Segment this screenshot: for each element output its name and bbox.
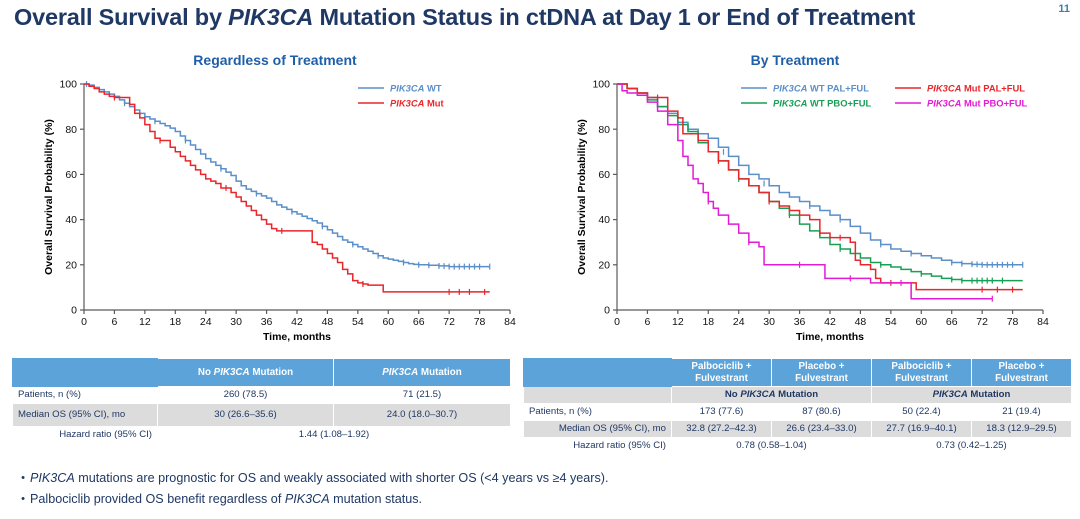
row-value-2: 27.7 (16.9–40.1) bbox=[872, 421, 972, 438]
svg-text:18: 18 bbox=[169, 316, 181, 328]
svg-text:60: 60 bbox=[915, 316, 927, 328]
svg-text:18: 18 bbox=[702, 316, 714, 328]
column-header-3: Placebo +Fulvestrant bbox=[972, 359, 1072, 387]
row-label: Median OS (95% CI), mo bbox=[13, 404, 158, 427]
svg-text:36: 36 bbox=[794, 316, 806, 328]
km-chart-by-treatment: 0204060801000612182430364248546066727884… bbox=[545, 72, 1055, 347]
svg-text:24: 24 bbox=[200, 316, 212, 328]
slide-number: 11 bbox=[1058, 3, 1070, 15]
svg-text:40: 40 bbox=[598, 214, 610, 226]
svg-text:80: 80 bbox=[598, 124, 610, 136]
group-header-1: PIK3CA Mutation bbox=[872, 387, 1072, 404]
svg-text:80: 80 bbox=[65, 124, 77, 136]
row-value-1: 71 (21.5) bbox=[334, 387, 511, 404]
row-value-span: 1.44 (1.08–1.92) bbox=[158, 427, 511, 444]
column-header-0: No PIK3CA Mutation bbox=[158, 359, 334, 387]
row-label: Patients, n (%) bbox=[13, 387, 158, 404]
svg-text:24: 24 bbox=[733, 316, 745, 328]
bullet-text: Palbociclib provided OS benefit regardle… bbox=[30, 491, 422, 508]
column-header-1: PIK3CA Mutation bbox=[334, 359, 511, 387]
svg-text:30: 30 bbox=[230, 316, 242, 328]
svg-text:66: 66 bbox=[413, 316, 425, 328]
svg-text:72: 72 bbox=[443, 316, 455, 328]
svg-text:78: 78 bbox=[1007, 316, 1019, 328]
row-label: Hazard ratio (95% CI) bbox=[524, 438, 672, 455]
table-row: Patients, n (%)173 (77.6)87 (80.6)50 (22… bbox=[524, 404, 1072, 421]
svg-text:Overall Survival Probability (: Overall Survival Probability (%) bbox=[43, 119, 55, 275]
svg-text:6: 6 bbox=[645, 316, 651, 328]
svg-text:78: 78 bbox=[474, 316, 486, 328]
svg-text:0: 0 bbox=[81, 316, 87, 328]
bullet-marker-icon: • bbox=[16, 491, 30, 508]
svg-text:12: 12 bbox=[139, 316, 151, 328]
km-curve-2 bbox=[617, 84, 1023, 290]
svg-text:84: 84 bbox=[504, 316, 516, 328]
by-treatment-table: Palbociclib +FulvestrantPlacebo +Fulvest… bbox=[523, 358, 1072, 455]
slide-root: Overall Survival by PIK3CA Mutation Stat… bbox=[0, 0, 1080, 519]
table-row: Median OS (95% CI), mo32.8 (27.2–42.3)26… bbox=[524, 421, 1072, 438]
row-value-3: 18.3 (12.9–29.5) bbox=[972, 421, 1072, 438]
bullet-item: •PIK3CA mutations are prognostic for OS … bbox=[16, 470, 1066, 487]
svg-text:40: 40 bbox=[65, 214, 77, 226]
svg-text:Time, months: Time, months bbox=[263, 331, 331, 343]
table-row: Hazard ratio (95% CI)1.44 (1.08–1.92) bbox=[13, 427, 511, 444]
svg-text:30: 30 bbox=[763, 316, 775, 328]
svg-text:60: 60 bbox=[65, 169, 77, 181]
table-row: Median OS (95% CI), mo30 (26.6–35.6)24.0… bbox=[13, 404, 511, 427]
row-value-1: 87 (80.6) bbox=[772, 404, 872, 421]
svg-text:PIK3CA Mut: PIK3CA Mut bbox=[390, 98, 444, 109]
row-value-2: 50 (22.4) bbox=[872, 404, 972, 421]
right-panel-title: By Treatment bbox=[560, 52, 1030, 68]
group-header-row: No PIK3CA MutationPIK3CA Mutation bbox=[524, 387, 1072, 404]
svg-text:0: 0 bbox=[614, 316, 620, 328]
km-chart-regardless-of-treatment: 0204060801000612182430364248546066727884… bbox=[12, 72, 522, 347]
svg-text:PIK3CA Mut PBO+FUL: PIK3CA Mut PBO+FUL bbox=[927, 98, 1028, 109]
group-header-blank bbox=[524, 387, 672, 404]
row-value-0: 30 (26.6–35.6) bbox=[158, 404, 334, 427]
svg-text:60: 60 bbox=[382, 316, 394, 328]
svg-text:6: 6 bbox=[112, 316, 118, 328]
svg-text:54: 54 bbox=[885, 316, 897, 328]
svg-text:PIK3CA WT PBO+FUL: PIK3CA WT PBO+FUL bbox=[773, 98, 871, 109]
regardless-of-treatment-table: No PIK3CA MutationPIK3CA MutationPatient… bbox=[12, 358, 511, 444]
svg-text:12: 12 bbox=[672, 316, 684, 328]
row-label: Median OS (95% CI), mo bbox=[524, 421, 672, 438]
header-blank bbox=[524, 359, 672, 387]
table-row: Hazard ratio (95% CI)0.78 (0.58–1.04)0.7… bbox=[524, 438, 1072, 455]
bullet-marker-icon: • bbox=[16, 470, 30, 487]
row-label: Hazard ratio (95% CI) bbox=[13, 427, 158, 444]
svg-text:42: 42 bbox=[824, 316, 836, 328]
svg-text:48: 48 bbox=[855, 316, 867, 328]
column-header-2: Palbociclib +Fulvestrant bbox=[872, 359, 972, 387]
svg-text:100: 100 bbox=[59, 79, 77, 91]
svg-text:Overall Survival Probability (: Overall Survival Probability (%) bbox=[576, 119, 588, 275]
row-value-1: 26.6 (23.4–33.0) bbox=[772, 421, 872, 438]
svg-text:PIK3CA WT: PIK3CA WT bbox=[390, 83, 442, 94]
table-header-row: No PIK3CA MutationPIK3CA Mutation bbox=[13, 359, 511, 387]
row-value-0: 173 (77.6) bbox=[672, 404, 772, 421]
page-title: Overall Survival by PIK3CA Mutation Stat… bbox=[14, 2, 1024, 32]
svg-text:Time, months: Time, months bbox=[796, 331, 864, 343]
km-curve-0 bbox=[84, 84, 490, 267]
svg-text:72: 72 bbox=[976, 316, 988, 328]
svg-text:0: 0 bbox=[71, 305, 77, 317]
row-value-span-1: 0.73 (0.42–1.25) bbox=[872, 438, 1072, 455]
svg-text:20: 20 bbox=[598, 259, 610, 271]
svg-text:84: 84 bbox=[1037, 316, 1049, 328]
row-value-1: 24.0 (18.0–30.7) bbox=[334, 404, 511, 427]
row-label: Patients, n (%) bbox=[524, 404, 672, 421]
bullet-list: •PIK3CA mutations are prognostic for OS … bbox=[16, 470, 1066, 512]
svg-text:100: 100 bbox=[592, 79, 610, 91]
column-header-0: Palbociclib +Fulvestrant bbox=[672, 359, 772, 387]
table-row: Patients, n (%)260 (78.5)71 (21.5) bbox=[13, 387, 511, 404]
svg-text:60: 60 bbox=[598, 169, 610, 181]
svg-text:PIK3CA Mut PAL+FUL: PIK3CA Mut PAL+FUL bbox=[927, 83, 1025, 94]
svg-text:0: 0 bbox=[604, 305, 610, 317]
svg-text:PIK3CA WT PAL+FUL: PIK3CA WT PAL+FUL bbox=[773, 83, 869, 94]
bullet-item: •Palbociclib provided OS benefit regardl… bbox=[16, 491, 1066, 508]
left-panel-title: Regardless of Treatment bbox=[40, 52, 510, 68]
row-value-0: 32.8 (27.2–42.3) bbox=[672, 421, 772, 438]
svg-text:20: 20 bbox=[65, 259, 77, 271]
column-header-1: Placebo +Fulvestrant bbox=[772, 359, 872, 387]
row-value-0: 260 (78.5) bbox=[158, 387, 334, 404]
svg-text:48: 48 bbox=[322, 316, 334, 328]
table-header-row: Palbociclib +FulvestrantPlacebo +Fulvest… bbox=[524, 359, 1072, 387]
row-value-span-0: 0.78 (0.58–1.04) bbox=[672, 438, 872, 455]
header-blank bbox=[13, 359, 158, 387]
svg-text:66: 66 bbox=[946, 316, 958, 328]
bullet-text: PIK3CA mutations are prognostic for OS a… bbox=[30, 470, 608, 487]
svg-text:36: 36 bbox=[261, 316, 273, 328]
svg-text:42: 42 bbox=[291, 316, 303, 328]
group-header-0: No PIK3CA Mutation bbox=[672, 387, 872, 404]
row-value-3: 21 (19.4) bbox=[972, 404, 1072, 421]
svg-text:54: 54 bbox=[352, 316, 364, 328]
